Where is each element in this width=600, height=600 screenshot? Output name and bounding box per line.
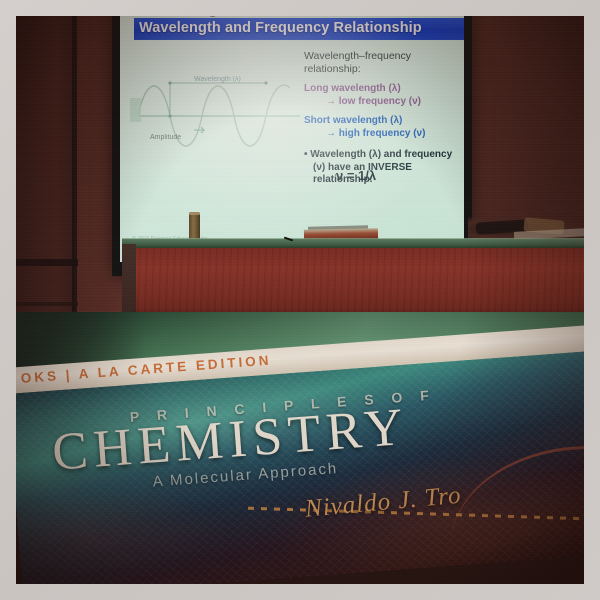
soda-can bbox=[189, 213, 200, 241]
bullet-short-wavelength-arrow: → high frequency (ν) bbox=[312, 128, 456, 141]
bullet-short-wavelength: Short wavelength (λ) → high frequency (ν… bbox=[304, 115, 456, 140]
projection-screen: Electromagnetic Radiation: Wavelength an… bbox=[120, 16, 464, 262]
left-wall-panel bbox=[16, 16, 74, 316]
slide-heading: Wavelength–frequency relationship: bbox=[304, 50, 456, 76]
wall-ledge bbox=[16, 259, 78, 266]
slide-text-column: Wavelength–frequency relationship: Long … bbox=[304, 50, 456, 187]
wall-corner-edge bbox=[72, 16, 77, 316]
chemistry-textbook: OKS | A LA CARTE EDITION P R I N C I P L… bbox=[16, 324, 584, 584]
wall-ledge-lower bbox=[16, 302, 78, 306]
photograph: Electromagnetic Radiation: Wavelength an… bbox=[16, 16, 584, 584]
sine-wave-diagram: Wavelength (λ) Amplitude bbox=[132, 58, 302, 168]
soda-can-top bbox=[189, 212, 200, 215]
wavelength-label: Wavelength (λ) bbox=[194, 76, 241, 83]
photo-frame: Electromagnetic Radiation: Wavelength an… bbox=[0, 0, 600, 600]
bullet-long-wavelength-text: Long wavelength (λ) bbox=[304, 83, 401, 94]
wave-axis-marker bbox=[130, 98, 141, 122]
formula-nu-equals-one-over-lambda: ν = 1/λ bbox=[336, 168, 376, 183]
sine-wave-icon bbox=[132, 58, 302, 168]
bullet-long-wavelength-arrow: → low frequency (ν) bbox=[312, 96, 456, 109]
slide-title-bar: Wavelength and Frequency Relationship bbox=[134, 18, 464, 40]
amplitude-label: Amplitude bbox=[150, 134, 181, 141]
bullet-short-wavelength-text: Short wavelength (λ) bbox=[304, 115, 402, 126]
inverse-relationship-statement: • Wavelength (λ) and frequency (ν) have … bbox=[304, 149, 456, 187]
bullet-long-wavelength: Long wavelength (λ) → low frequency (ν) bbox=[304, 83, 456, 108]
slide-title: Wavelength and Frequency Relationship bbox=[139, 20, 422, 36]
projection-screen-frame: Electromagnetic Radiation: Wavelength an… bbox=[112, 16, 472, 276]
slide-body: Wavelength (λ) Amplitude Wavelength–freq… bbox=[120, 40, 464, 262]
